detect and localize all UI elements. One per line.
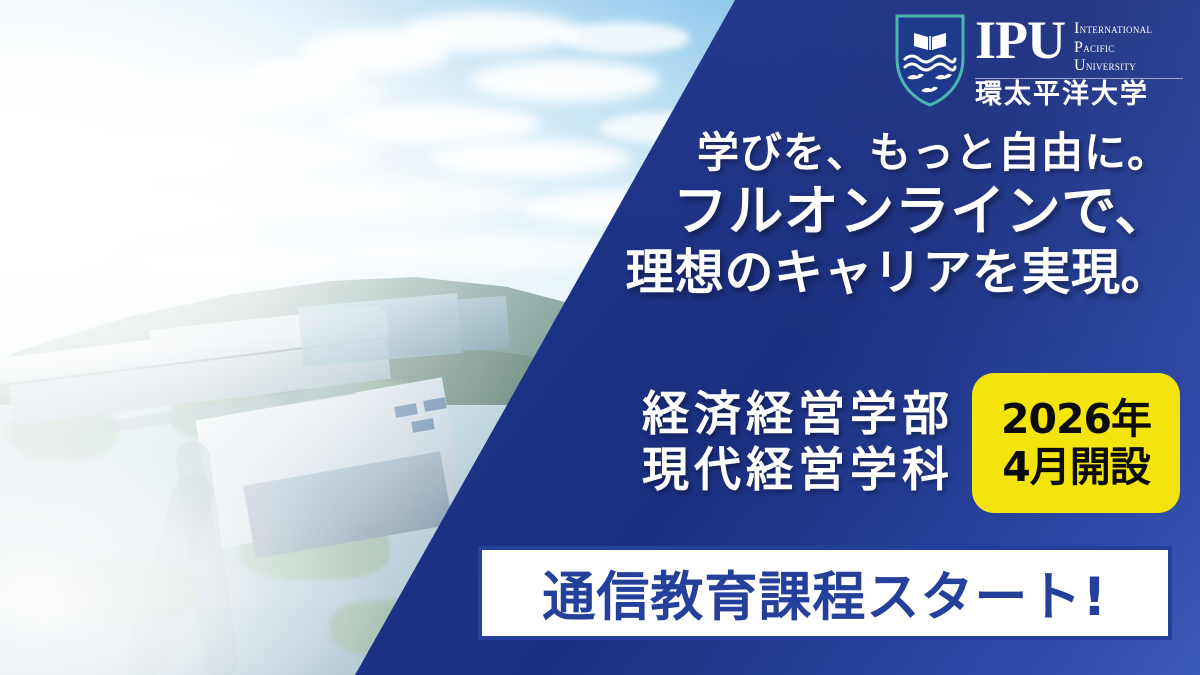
faculty-line-2: 現代経営学科 — [642, 443, 954, 499]
cloud-shape — [60, 196, 240, 228]
cloud-shape — [560, 22, 690, 54]
program-start-banner-text: 通信教育課程スタート! — [542, 555, 1107, 631]
logo-english-line-3: University — [1074, 57, 1152, 76]
badge-line-1: 2026年 — [1001, 397, 1151, 441]
faculty-line-1: 経済経営学部 — [642, 387, 954, 443]
cloud-shape — [400, 12, 580, 52]
faculty-badge-row: 経済経営学部 現代経営学科 2026年 4月開設 — [520, 372, 1180, 514]
logo-english-line-2: Pacific — [1074, 39, 1152, 58]
faculty-name-block: 経済経営学部 現代経営学科 — [642, 387, 954, 500]
headline-line-3: 理想のキャリアを実現。 — [625, 245, 1170, 302]
badge-line-2: 4月開設 — [1002, 445, 1150, 489]
logo-english-name: International Pacific University — [1074, 16, 1152, 76]
opening-date-badge: 2026年 4月開設 — [972, 373, 1180, 513]
logo-japanese-name: 環太平洋大学 — [975, 80, 1183, 109]
logo-wordmark: IPU International Pacific University 環太平… — [975, 12, 1183, 109]
cloud-shape — [170, 70, 390, 114]
headline-block: 学びを、もっと自由に。 フルオンラインで、 理想のキャリアを実現。 — [625, 128, 1170, 302]
program-start-banner[interactable]: 通信教育課程スタート! — [478, 546, 1172, 640]
logo-acronym: IPU — [975, 16, 1065, 66]
shield-crest-icon — [893, 12, 967, 108]
promo-banner-root: IPU International Pacific University 環太平… — [0, 0, 1200, 675]
campus-building — [386, 296, 509, 356]
cloud-shape — [430, 140, 630, 178]
cloud-shape — [470, 60, 660, 102]
cloud-shape — [120, 130, 380, 176]
logo-english-line-1: International — [1074, 20, 1152, 39]
headline-line-1: 学びを、もっと自由に。 — [625, 128, 1170, 178]
headline-line-2: フルオンラインで、 — [625, 180, 1170, 244]
ipu-logo[interactable]: IPU International Pacific University 環太平… — [893, 12, 1183, 120]
cloud-shape — [250, 178, 530, 222]
cloud-shape — [330, 104, 540, 144]
